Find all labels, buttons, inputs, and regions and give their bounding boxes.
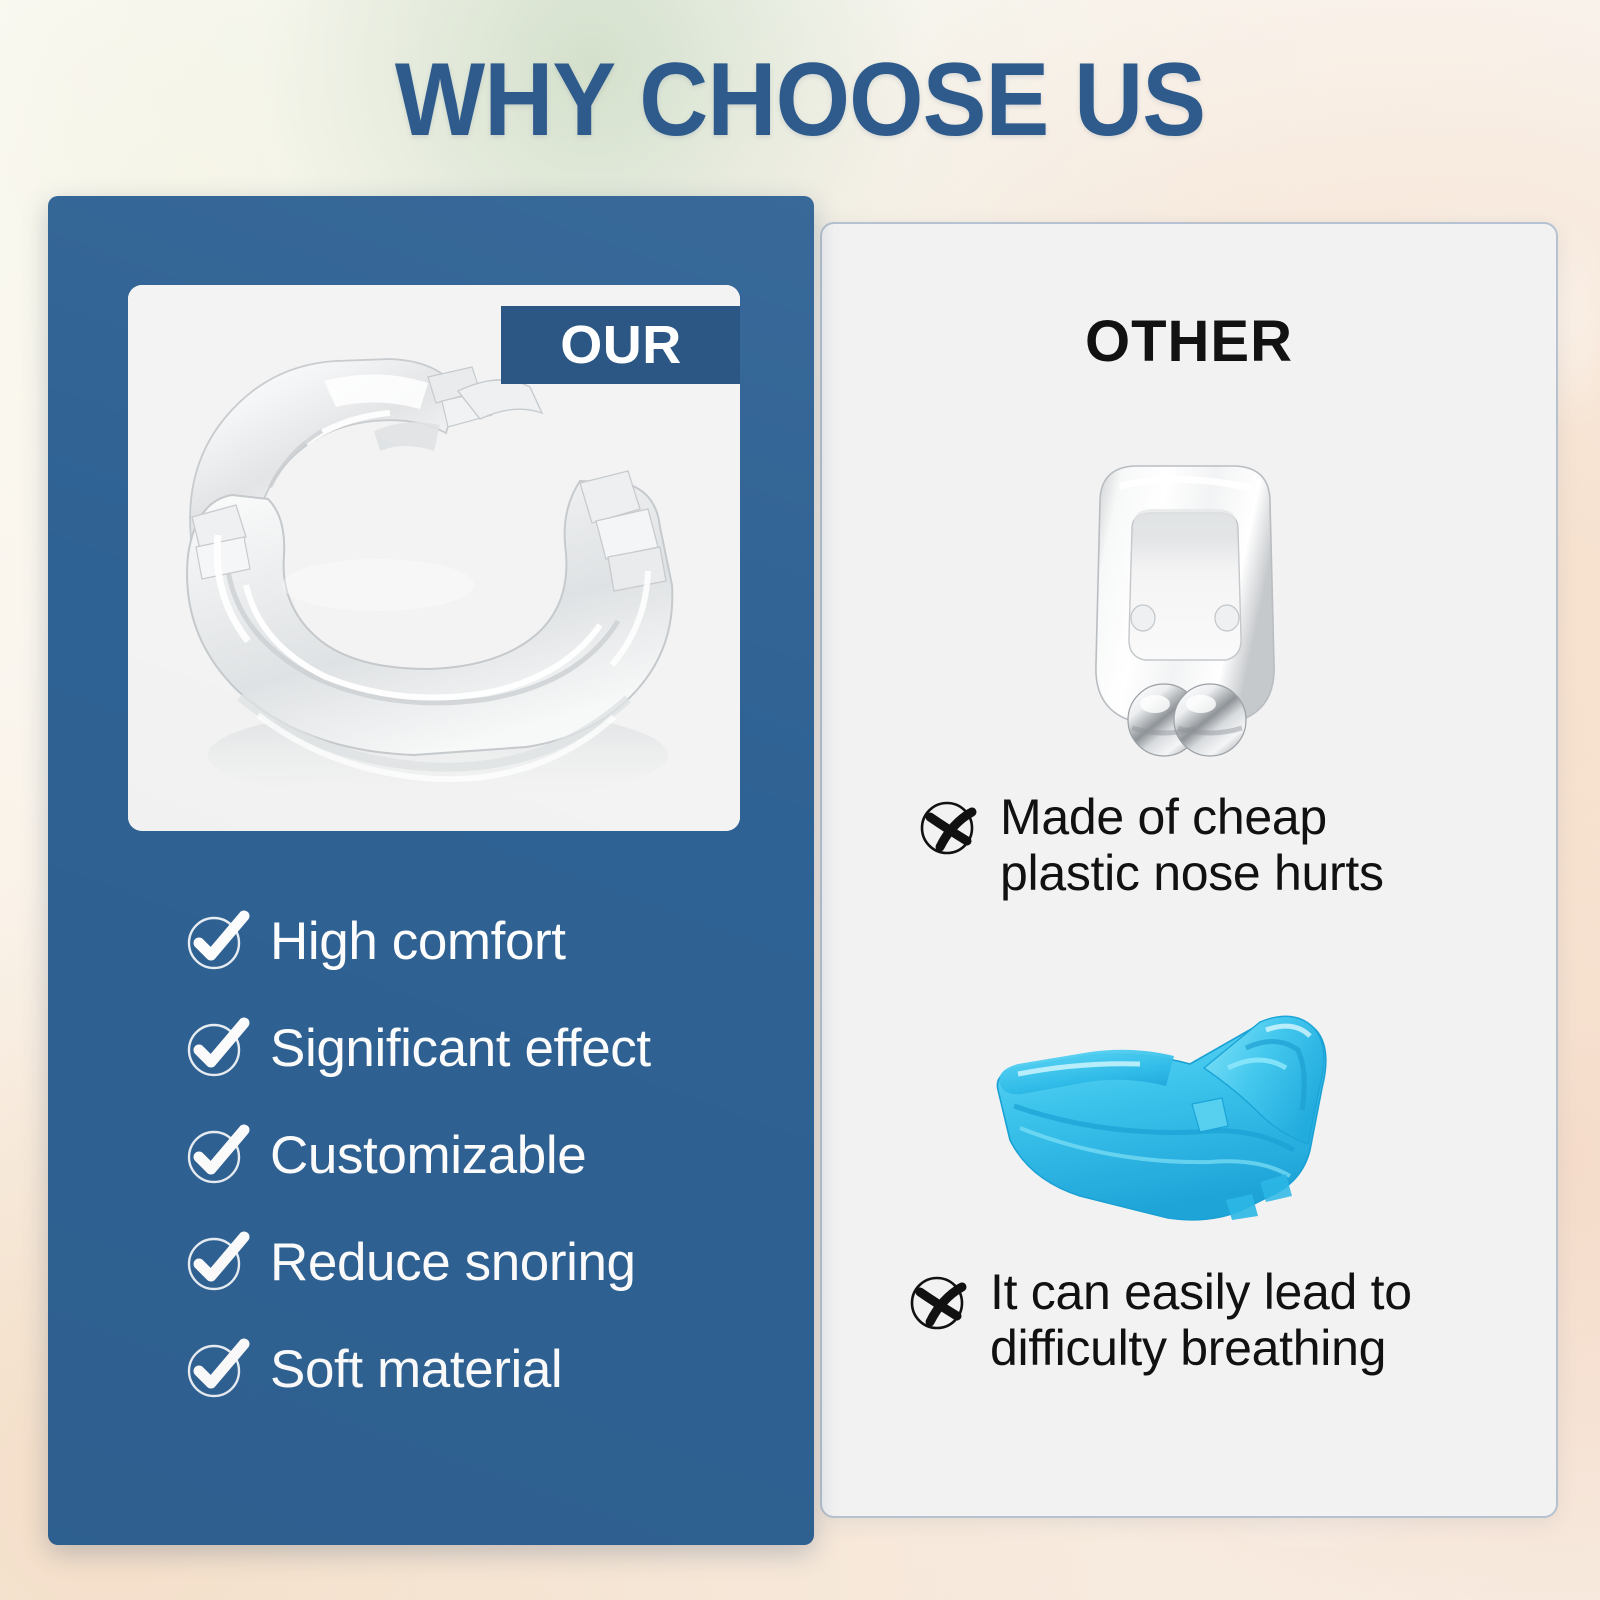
feature-label: Customizable [270, 1129, 586, 1182]
feature-label: Significant effect [270, 1022, 651, 1075]
feature-item: Soft material [182, 1316, 782, 1423]
feature-item: High comfort [182, 888, 782, 995]
check-circle-icon [182, 903, 254, 980]
drawback-line-1: Made of cheap [1000, 789, 1327, 845]
feature-label: High comfort [270, 915, 566, 968]
blue-mouthguard-product-image [960, 964, 1360, 1234]
page-title: WHY CHOOSE US [64, 48, 1536, 152]
drawback-line-2: difficulty breathing [990, 1320, 1386, 1376]
x-circle-icon [908, 1270, 970, 1337]
our-badge: OUR [501, 306, 740, 384]
feature-label: Soft material [270, 1343, 562, 1396]
our-panel: OUR High comfort S [48, 196, 814, 1545]
feature-item: Reduce snoring [182, 1209, 782, 1316]
check-circle-icon [182, 1117, 254, 1194]
our-product-card: OUR [128, 285, 740, 831]
check-circle-icon [182, 1224, 254, 1301]
check-circle-icon [182, 1331, 254, 1408]
drawback-line-2: plastic nose hurts [1000, 845, 1384, 901]
x-circle-icon [918, 795, 980, 862]
drawback-text: Made of cheap plastic nose hurts [1000, 789, 1384, 901]
other-panel-header: OTHER [822, 308, 1556, 375]
infographic-canvas: WHY CHOOSE US OTHER [0, 0, 1600, 1600]
feature-item: Customizable [182, 1102, 782, 1209]
drawback-item: It can easily lead to difficulty breathi… [908, 1264, 1548, 1376]
nose-clip-product-image [1060, 442, 1310, 772]
feature-label: Reduce snoring [270, 1236, 636, 1289]
drawback-text: It can easily lead to difficulty breathi… [990, 1264, 1412, 1376]
check-circle-icon [182, 1010, 254, 1087]
drawback-item: Made of cheap plastic nose hurts [918, 789, 1538, 901]
feature-list: High comfort Significant effect [182, 888, 782, 1423]
other-panel: OTHER [820, 222, 1558, 1518]
drawback-line-1: It can easily lead to [990, 1264, 1412, 1320]
feature-item: Significant effect [182, 995, 782, 1102]
